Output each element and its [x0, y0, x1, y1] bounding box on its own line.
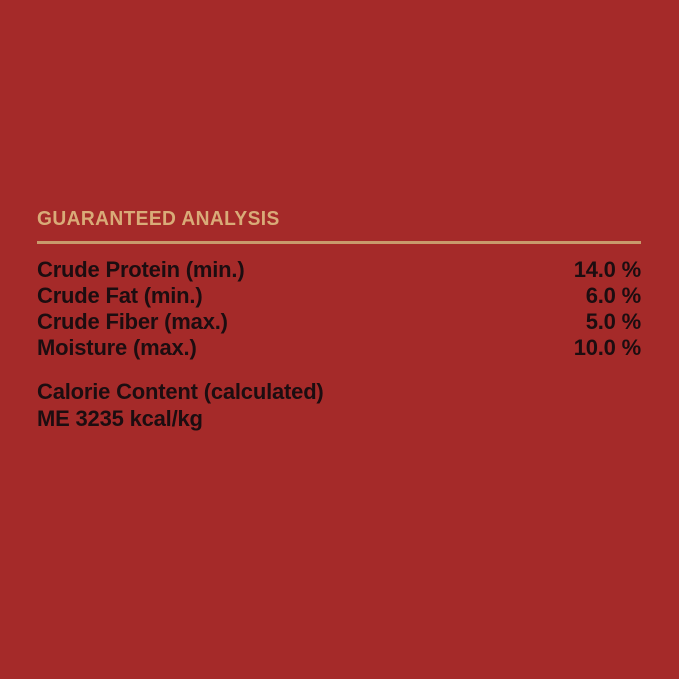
- calorie-content-block: Calorie Content (calculated) ME 3235 kca…: [37, 378, 641, 432]
- nutrient-value: 10.0 %: [574, 335, 641, 361]
- nutrient-label: Crude Protein (min.): [37, 257, 244, 283]
- table-row: Crude Protein (min.) 14.0 %: [37, 257, 641, 283]
- nutrient-label: Crude Fat (min.): [37, 283, 202, 309]
- nutrient-value: 14.0 %: [574, 257, 641, 283]
- nutrition-label-page: { "theme": { "background_color": "#a52a2…: [0, 0, 679, 679]
- nutrient-label: Crude Fiber (max.): [37, 309, 228, 335]
- table-row: Crude Fat (min.) 6.0 %: [37, 283, 641, 309]
- table-row: Moisture (max.) 10.0 %: [37, 335, 641, 361]
- nutrient-value: 5.0 %: [586, 309, 641, 335]
- calorie-content-title: Calorie Content (calculated): [37, 378, 641, 405]
- nutrient-value: 6.0 %: [586, 283, 641, 309]
- panel-heading: GUARANTEED ANALYSIS: [37, 208, 617, 230]
- calorie-content-detail: ME 3235 kcal/kg: [37, 405, 641, 432]
- heading-divider: [37, 241, 641, 244]
- table-row: Crude Fiber (max.) 5.0 %: [37, 309, 641, 335]
- analysis-table: Crude Protein (min.) 14.0 % Crude Fat (m…: [37, 257, 641, 361]
- nutrient-label: Moisture (max.): [37, 335, 197, 361]
- guaranteed-analysis-panel: GUARANTEED ANALYSIS Crude Protein (min.)…: [37, 208, 641, 432]
